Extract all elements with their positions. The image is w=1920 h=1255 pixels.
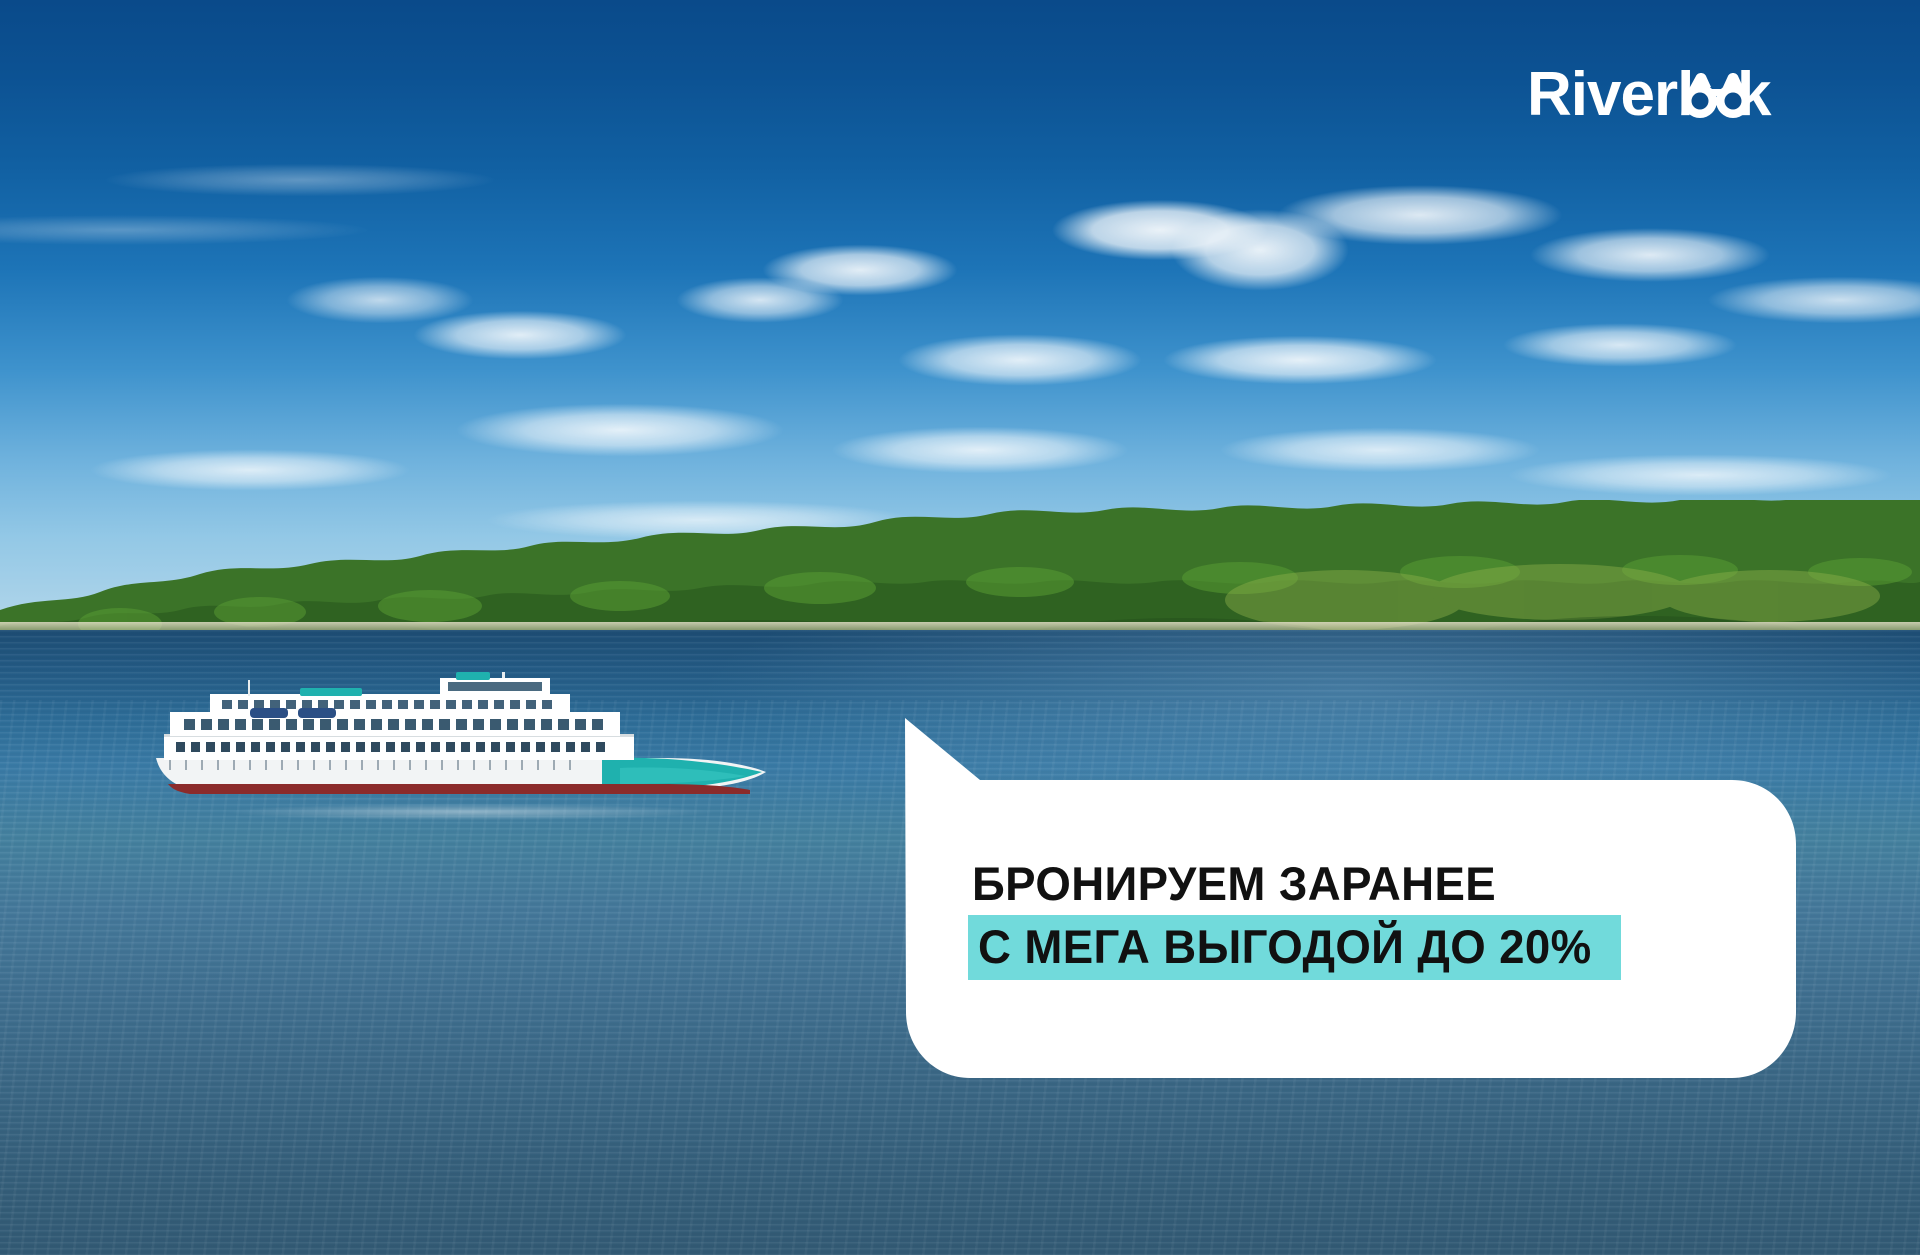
riverbook-wordmark: Riverb k [1527,61,1857,133]
promo-poster: Riverb k БРОНИРУЕМ ЗАРАНЕЕ С МЕГА ВЫГОДО… [0,0,1920,1255]
promo-text-block: БРОНИРУЕМ ЗАРАНЕЕ С МЕГА ВЫГОДОЙ ДО 20% [972,860,1762,980]
riverbook-logo[interactable]: Riverb k [1527,58,1867,136]
promo-speech-bubble: БРОНИРУЕМ ЗАРАНЕЕ С МЕГА ВЫГОДОЙ ДО 20% [900,712,1800,1084]
promo-highlight-bar: С МЕГА ВЫГОДОЙ ДО 20% [968,915,1621,980]
promo-headline-line1: БРОНИРУЕМ ЗАРАНЕЕ [972,860,1738,909]
ship-wake [120,800,820,828]
promo-headline-line2: С МЕГА ВЫГОДОЙ ДО 20% [978,923,1592,970]
river-cruise-ship [150,672,790,802]
